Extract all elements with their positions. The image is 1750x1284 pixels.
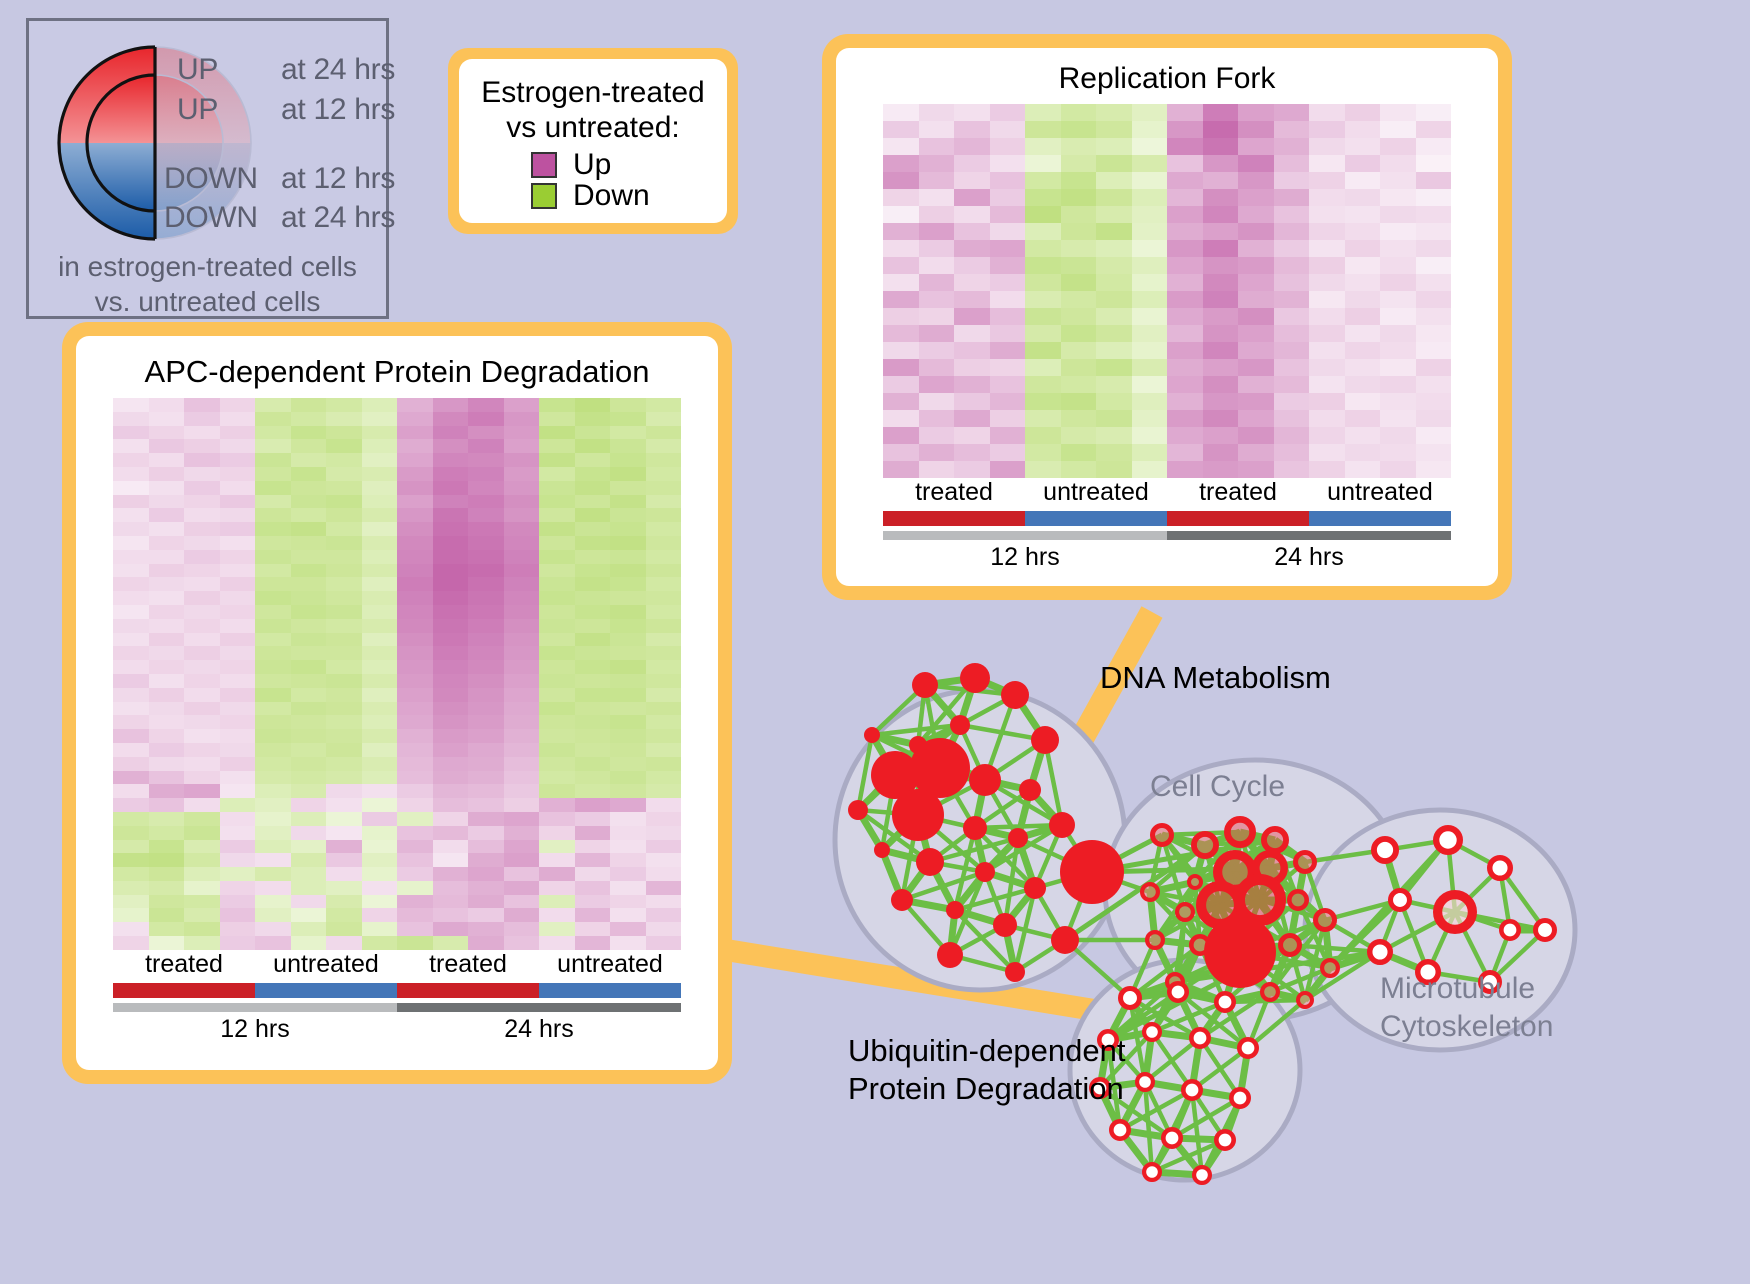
heatmap-cell [291, 591, 327, 605]
heatmap-cell [184, 481, 220, 495]
heatmap-cell [149, 398, 185, 412]
heatmap-cell [1167, 444, 1203, 461]
heatmap-cell [255, 812, 291, 826]
heatmap-cell [255, 840, 291, 854]
heatmap-cell [397, 867, 433, 881]
heatmap-cell [291, 840, 327, 854]
network-node [1121, 989, 1140, 1008]
heatmap-cell [326, 453, 362, 467]
heatmap-cell [184, 743, 220, 757]
heatmap-cell [954, 223, 990, 240]
heatmap-cell [468, 564, 504, 578]
heatmap-cell [1309, 104, 1345, 121]
heatmap-cell [255, 660, 291, 674]
network-node [937, 942, 963, 968]
heatmap-cell [433, 453, 469, 467]
heatmap-cell [326, 881, 362, 895]
heatmap-cell [1061, 206, 1097, 223]
wheel-state-0: UP [177, 53, 218, 87]
heatmap-cell [184, 688, 220, 702]
heatmap-cell [1380, 461, 1416, 478]
heatmap-cell [1309, 461, 1345, 478]
heatmap-cell [149, 453, 185, 467]
heatmap-cell [362, 660, 398, 674]
heatmap-cell [184, 453, 220, 467]
treatment-colour-bar [883, 511, 1451, 526]
heatmap-cell [504, 936, 540, 950]
heatmap-cell [610, 826, 646, 840]
heatmap-cell [468, 508, 504, 522]
heatmap-cell [1416, 291, 1452, 308]
heatmap-cell [1061, 376, 1097, 393]
heatmap-cell [575, 633, 611, 647]
heatmap-cell [220, 619, 256, 633]
network-node [963, 816, 987, 840]
heatmap-cell [1345, 325, 1381, 342]
heatmap-cell [504, 674, 540, 688]
heatmap-cell [954, 427, 990, 444]
heatmap-cell [1380, 444, 1416, 461]
heatmap-cell [113, 798, 149, 812]
heatmap-cell [1416, 206, 1452, 223]
heatmap-cell [1238, 359, 1274, 376]
heatmap-cell [610, 591, 646, 605]
heatmap-cell [1309, 325, 1345, 342]
heatmap-cell [149, 591, 185, 605]
heatmap-cell [220, 936, 256, 950]
heatmap-cell [1061, 427, 1097, 444]
heatmap-cell [1061, 359, 1097, 376]
network-node [916, 848, 944, 876]
heatmap-cell [433, 812, 469, 826]
heatmap-cell [919, 291, 955, 308]
heatmap-cell [575, 702, 611, 716]
heatmap-cell [575, 660, 611, 674]
heatmap-cell [883, 461, 919, 478]
heatmap-cell [149, 633, 185, 647]
heatmap-cell [1274, 257, 1310, 274]
heatmap-cell [539, 826, 575, 840]
heatmap-cell [575, 771, 611, 785]
heatmap-cell [1238, 257, 1274, 274]
heatmap-cell [610, 922, 646, 936]
heatmap-cell [1096, 121, 1132, 138]
heatmap-cell [1380, 359, 1416, 376]
heatmap-cell [610, 729, 646, 743]
heatmap-cell [1061, 257, 1097, 274]
heatmap-cell [1061, 121, 1097, 138]
heatmap-cell [326, 577, 362, 591]
heatmap-cell [149, 840, 185, 854]
heatmap-cell [504, 784, 540, 798]
heatmap-cell [575, 881, 611, 895]
heatmap-cell [326, 908, 362, 922]
cluster-label-ubiquitin-degradation: Ubiquitin-dependent Protein Degradation [848, 1032, 1126, 1108]
heatmap-cell [610, 688, 646, 702]
heatmap-cell [220, 481, 256, 495]
heatmap-cell [184, 798, 220, 812]
heatmap-cell [1203, 461, 1239, 478]
network-node [1189, 876, 1201, 888]
heatmap-cell [883, 376, 919, 393]
heatmap-cell [919, 240, 955, 257]
heatmap-cell [539, 605, 575, 619]
heatmap-cell [220, 743, 256, 757]
heatmap-cell [326, 743, 362, 757]
heatmap-cell [326, 729, 362, 743]
wheel-time-1: at 12 hrs [281, 93, 395, 127]
heatmap-cell [1238, 240, 1274, 257]
apc-degradation-heatmap [113, 398, 681, 950]
heatmap-cell [990, 206, 1026, 223]
heatmap-cell [1203, 325, 1239, 342]
network-node [1024, 877, 1046, 899]
heatmap-cell [220, 895, 256, 909]
heatmap-cell [1167, 325, 1203, 342]
heatmap-cell [291, 605, 327, 619]
heatmap-cell [883, 359, 919, 376]
heatmap-cell [433, 867, 469, 881]
heatmap-cell [1096, 410, 1132, 427]
heatmap-cell [1345, 274, 1381, 291]
heatmap-cell [646, 564, 682, 578]
heatmap-cell [1167, 155, 1203, 172]
heatmap-cell [575, 619, 611, 633]
timepoint-colour-bar [113, 1003, 681, 1012]
heatmap-cell [504, 908, 540, 922]
heatmap-cell [326, 674, 362, 688]
heatmap-cell [883, 410, 919, 427]
heatmap-cell [990, 461, 1026, 478]
heatmap-cell [468, 881, 504, 895]
heatmap-cell [433, 550, 469, 564]
heatmap-cell [990, 257, 1026, 274]
heatmap-cell [362, 812, 398, 826]
heatmap-cell [1238, 206, 1274, 223]
cluster-label-cell-cycle: Cell Cycle [1150, 770, 1285, 804]
heatmap-cell [1380, 206, 1416, 223]
heatmap-cell [184, 702, 220, 716]
network-node [892, 789, 944, 841]
heatmap-cell [610, 495, 646, 509]
heatmap-cell [575, 674, 611, 688]
heatmap-cell [610, 908, 646, 922]
network-node [993, 913, 1017, 937]
heatmap-cell [1309, 393, 1345, 410]
heatmap-cell [1345, 223, 1381, 240]
heatmap-cell [990, 240, 1026, 257]
heatmap-cell [1274, 206, 1310, 223]
heatmap-cell [1238, 223, 1274, 240]
heatmap-cell [646, 743, 682, 757]
network-node [1231, 1089, 1248, 1106]
heatmap-cell [539, 729, 575, 743]
heatmap-cell [539, 522, 575, 536]
heatmap-cell [397, 660, 433, 674]
heatmap-cell [220, 550, 256, 564]
heatmap-cell [504, 495, 540, 509]
heatmap-cell [220, 853, 256, 867]
heatmap-cell [326, 412, 362, 426]
ubiquitin-label-line1: Ubiquitin-dependent [848, 1032, 1126, 1070]
heatmap-cell [326, 550, 362, 564]
heatmap-cell [291, 660, 327, 674]
heatmap-cell [1274, 376, 1310, 393]
heatmap-cell [954, 393, 990, 410]
heatmap-cell [1238, 121, 1274, 138]
cluster-label-microtubule-cytoskeleton: Microtubule Cytoskeleton [1380, 970, 1553, 1045]
heatmap-cell [954, 189, 990, 206]
heatmap-cell [990, 427, 1026, 444]
heatmap-cell [610, 619, 646, 633]
network-node [1438, 895, 1473, 930]
heatmap-cell [362, 715, 398, 729]
heatmap-cell [1345, 461, 1381, 478]
heatmap-cell [1025, 410, 1061, 427]
heatmap-cell [1167, 308, 1203, 325]
heatmap-cell [575, 867, 611, 881]
heatmap-cell [255, 784, 291, 798]
heatmap-cell [1238, 291, 1274, 308]
heatmap-cell [610, 577, 646, 591]
wheel-time-2: at 12 hrs [281, 162, 395, 196]
heatmap-cell [326, 784, 362, 798]
heatmap-cell [1309, 189, 1345, 206]
heatmap-cell [184, 674, 220, 688]
heatmap-cell [326, 439, 362, 453]
heatmap-cell [539, 591, 575, 605]
network-node [864, 727, 880, 743]
heatmap-cell [1203, 291, 1239, 308]
heatmap-cell [291, 426, 327, 440]
heatmap-cell [113, 771, 149, 785]
heatmap-cell [1167, 359, 1203, 376]
heatmap-cell [539, 577, 575, 591]
heatmap-cell [220, 840, 256, 854]
heatmap-cell [646, 922, 682, 936]
heatmap-cell [539, 674, 575, 688]
heatmap-cell [954, 121, 990, 138]
heatmap-cell [646, 784, 682, 798]
heatmap-cell [1203, 189, 1239, 206]
heatmap-cell [468, 743, 504, 757]
heatmap-cell [291, 508, 327, 522]
network-node [848, 800, 868, 820]
heatmap-cell [397, 881, 433, 895]
heatmap-cell [504, 702, 540, 716]
heatmap-cell [504, 536, 540, 550]
heatmap-cell [1025, 138, 1061, 155]
heatmap-cell [575, 550, 611, 564]
heatmap-cell [1096, 308, 1132, 325]
heatmap-cell [1380, 104, 1416, 121]
heatmap-cell [220, 426, 256, 440]
heatmap-cell [433, 674, 469, 688]
heatmap-cell [362, 729, 398, 743]
heatmap-cell [433, 439, 469, 453]
heatmap-cell [575, 840, 611, 854]
heatmap-cell [149, 881, 185, 895]
heatmap-cell [504, 895, 540, 909]
heatmap-cell [362, 895, 398, 909]
heatmap-cell [1274, 189, 1310, 206]
heatmap-cell [954, 257, 990, 274]
heatmap-cell [610, 812, 646, 826]
timepoint-bar-segment [1167, 531, 1451, 540]
heatmap-cell [1238, 172, 1274, 189]
heatmap-cell [646, 881, 682, 895]
heatmap-cell [291, 453, 327, 467]
heatmap-cell [255, 743, 291, 757]
heatmap-cell [919, 138, 955, 155]
heatmap-cell [990, 342, 1026, 359]
network-graph [800, 600, 1750, 1279]
heatmap-cell [184, 550, 220, 564]
heatmap-cell [646, 619, 682, 633]
heatmap-cell [362, 881, 398, 895]
heatmap-cell [646, 688, 682, 702]
heatmap-cell [610, 895, 646, 909]
heatmap-cell [1096, 172, 1132, 189]
heatmap-cell [1132, 121, 1168, 138]
heatmap-cell [113, 453, 149, 467]
heatmap-cell [610, 881, 646, 895]
heatmap-cell [255, 426, 291, 440]
heatmap-cell [220, 508, 256, 522]
heatmap-cell [539, 715, 575, 729]
heatmap-cell [1167, 427, 1203, 444]
heatmap-cell [397, 619, 433, 633]
apc-degradation-title: APC-dependent Protein Degradation [76, 354, 718, 390]
heatmap-cell [1025, 104, 1061, 121]
heatmap-cell [184, 812, 220, 826]
heatmap-cell [1025, 172, 1061, 189]
heatmap-cell [113, 702, 149, 716]
network-node [1536, 921, 1555, 940]
legend-title-line1: Estrogen-treated [459, 75, 727, 110]
heatmap-cell [113, 439, 149, 453]
heatmap-cell [539, 412, 575, 426]
legend-label-down: Down [573, 181, 650, 211]
heatmap-cell [1238, 461, 1274, 478]
replication-fork-axis: treated untreated treated untreated 12 h [883, 478, 1451, 572]
heatmap-cell [220, 467, 256, 481]
heatmap-cell [1132, 104, 1168, 121]
wheel-time-0: at 24 hrs [281, 53, 395, 87]
heatmap-cell [504, 646, 540, 660]
heatmap-cell [1203, 274, 1239, 291]
group-label-1: untreated [1025, 478, 1167, 507]
heatmap-cell [220, 605, 256, 619]
heatmap-cell [919, 308, 955, 325]
heatmap-cell [883, 444, 919, 461]
group-label-2: treated [397, 950, 539, 979]
network-node [1153, 826, 1172, 845]
heatmap-cell [255, 729, 291, 743]
heatmap-cell [1416, 308, 1452, 325]
heatmap-cell [220, 881, 256, 895]
heatmap-cell [1274, 359, 1310, 376]
heatmap-cell [646, 536, 682, 550]
heatmap-cell [1274, 121, 1310, 138]
heatmap-cell [646, 715, 682, 729]
treatment-bar-segment [397, 983, 539, 998]
heatmap-cell [326, 798, 362, 812]
heatmap-cell [362, 564, 398, 578]
heatmap-cell [539, 633, 575, 647]
heatmap-cell [1132, 325, 1168, 342]
timepoint-label-12: 12 hrs [113, 1015, 397, 1044]
heatmap-cell [539, 702, 575, 716]
heatmap-cell [255, 826, 291, 840]
heatmap-cell [919, 257, 955, 274]
heatmap-cell [291, 757, 327, 771]
heatmap-cell [184, 922, 220, 936]
replication-fork-body: Replication Fork treated untreated treat… [836, 48, 1498, 586]
heatmap-cell [220, 688, 256, 702]
heatmap-cell [610, 936, 646, 950]
heatmap-cell [468, 908, 504, 922]
heatmap-cell [990, 104, 1026, 121]
heatmap-cell [504, 426, 540, 440]
heatmap-cell [220, 412, 256, 426]
heatmap-cell [990, 189, 1026, 206]
network-node [946, 901, 964, 919]
heatmap-cell [919, 461, 955, 478]
heatmap-cell [990, 138, 1026, 155]
heatmap-cell [149, 426, 185, 440]
treatment-bar-segment [1167, 511, 1309, 526]
heatmap-cell [1380, 427, 1416, 444]
heatmap-cell [919, 427, 955, 444]
heatmap-cell [1345, 308, 1381, 325]
heatmap-cell [610, 674, 646, 688]
heatmap-cell [149, 688, 185, 702]
heatmap-cell [184, 908, 220, 922]
heatmap-cell [1274, 104, 1310, 121]
heatmap-cell [646, 508, 682, 522]
heatmap-cell [1132, 427, 1168, 444]
heatmap-cell [1025, 376, 1061, 393]
heatmap-cell [397, 840, 433, 854]
heatmap-cell [539, 895, 575, 909]
heatmap-cell [504, 715, 540, 729]
heatmap-cell [919, 359, 955, 376]
heatmap-cell [954, 342, 990, 359]
heatmap-cell [1345, 155, 1381, 172]
heatmap-cell [610, 867, 646, 881]
heatmap-cell [1167, 138, 1203, 155]
heatmap-cell [575, 853, 611, 867]
heatmap-cell [1096, 359, 1132, 376]
heatmap-cell [646, 439, 682, 453]
heatmap-cell [646, 481, 682, 495]
heatmap-cell [1238, 155, 1274, 172]
heatmap-cell [255, 853, 291, 867]
heatmap-cell [1345, 393, 1381, 410]
group-label-0: treated [113, 950, 255, 979]
heatmap-cell [1096, 104, 1132, 121]
heatmap-cell [1025, 291, 1061, 308]
treatment-bar-segment [255, 983, 397, 998]
heatmap-cell [468, 646, 504, 660]
heatmap-cell [326, 605, 362, 619]
heatmap-cell [255, 798, 291, 812]
heatmap-cell [184, 577, 220, 591]
heatmap-cell [184, 439, 220, 453]
heatmap-cell [149, 619, 185, 633]
heatmap-cell [1132, 155, 1168, 172]
